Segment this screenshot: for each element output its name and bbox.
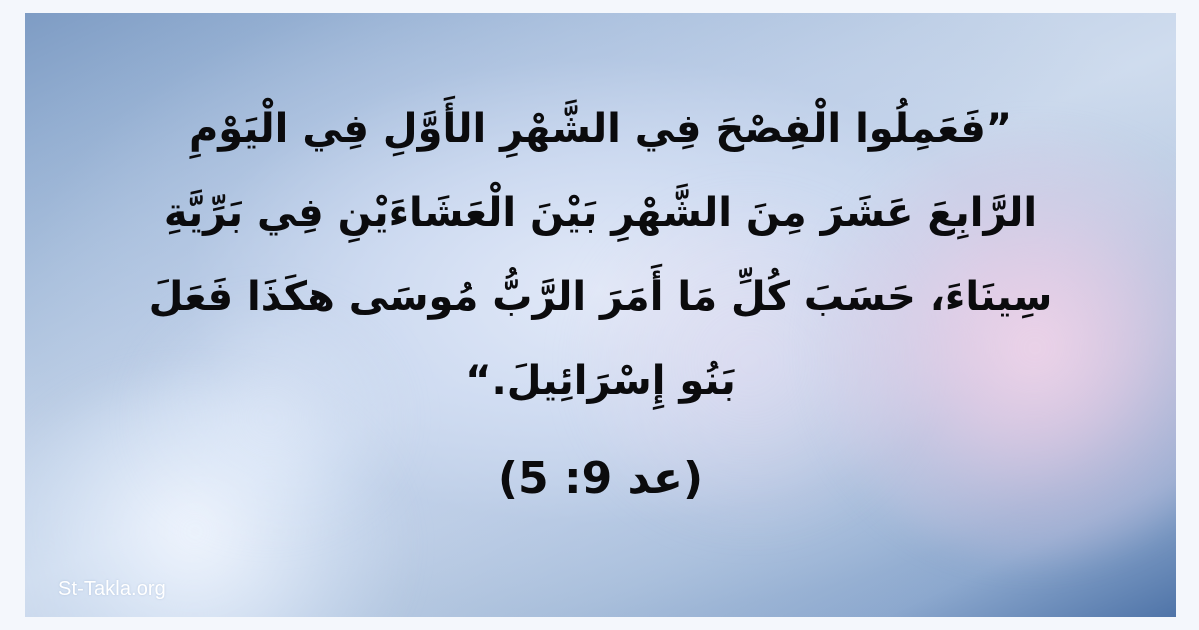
verse-text-block: ”فَعَمِلُوا الْفِصْحَ فِي الشَّهْرِ الأَ… <box>25 13 1176 423</box>
verse-reference: (عد 9: 5) <box>25 453 1176 504</box>
verse-line-1: ”فَعَمِلُوا الْفِصْحَ فِي الشَّهْرِ الأَ… <box>25 87 1176 171</box>
verse-line-4: بَنُو إِسْرَائِيلَ.“ <box>25 339 1176 423</box>
verse-line-3: سِينَاءَ، حَسَبَ كُلِّ مَا أَمَرَ الرَّب… <box>25 255 1176 339</box>
verse-line-2: الرَّابِعَ عَشَرَ مِنَ الشَّهْرِ بَيْنَ … <box>25 171 1176 255</box>
verse-card: ”فَعَمِلُوا الْفِصْحَ فِي الشَّهْرِ الأَ… <box>0 0 1199 630</box>
artwork-plate: ”فَعَمِلُوا الْفِصْحَ فِي الشَّهْرِ الأَ… <box>25 13 1176 617</box>
site-watermark: St-Takla.org <box>58 578 166 601</box>
